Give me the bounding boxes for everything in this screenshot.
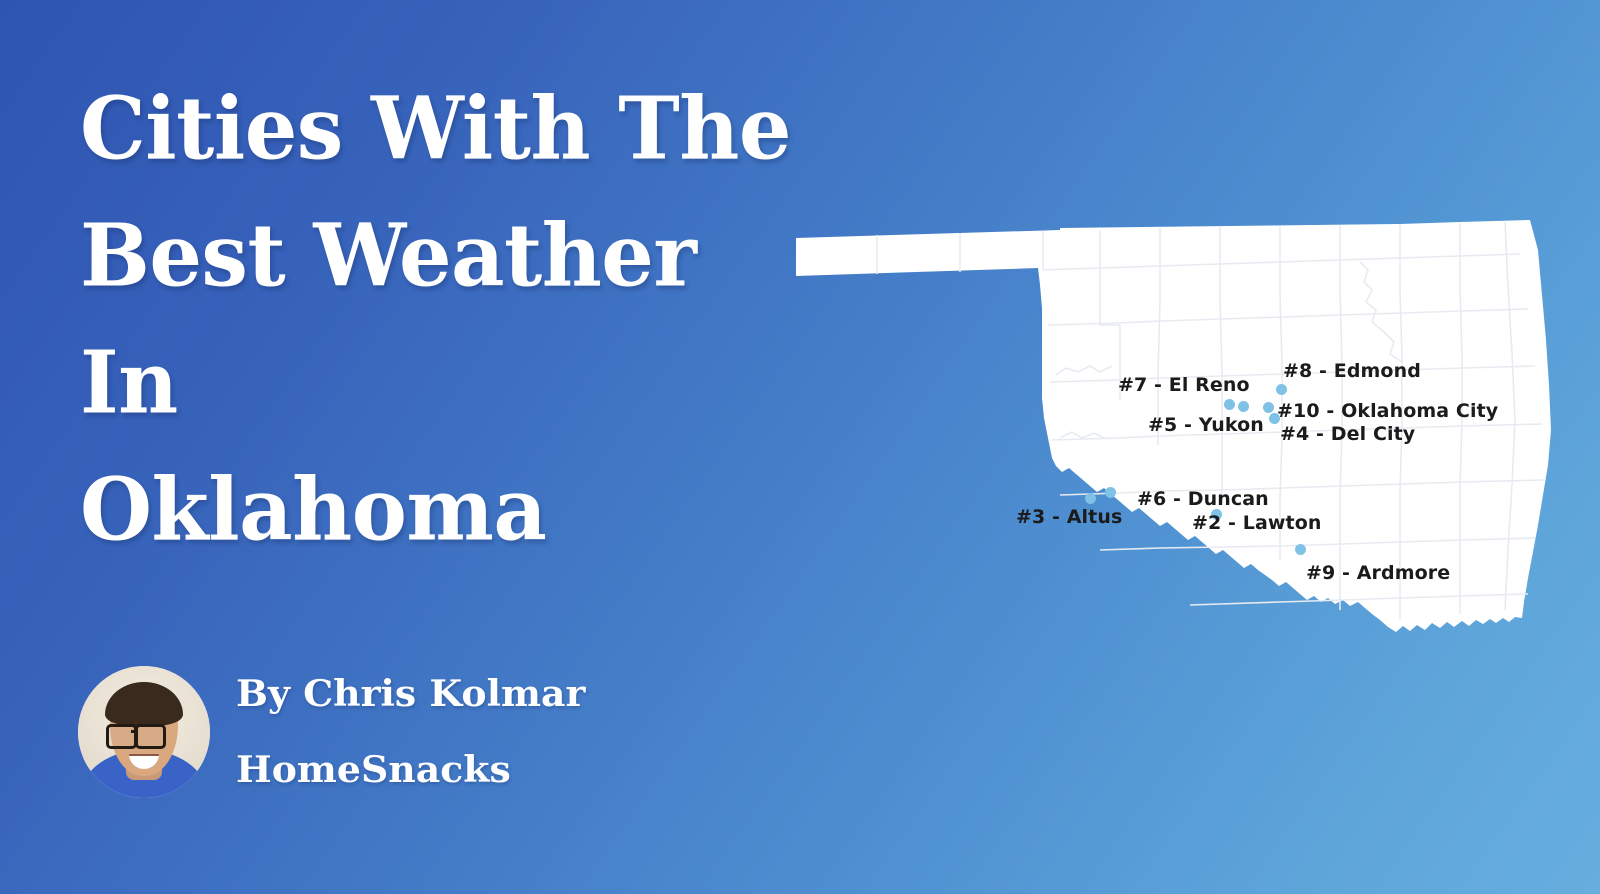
avatar-glasses-bridge [131, 730, 137, 733]
city-dot-duncan[interactable] [1105, 487, 1116, 498]
city-label-altus: #3 - Altus [1016, 506, 1122, 528]
poster-canvas: Cities With The Best Weather In Oklahoma… [0, 0, 1600, 894]
city-dot-altus[interactable] [1085, 493, 1096, 504]
city-label-lawton: #2 - Lawton [1192, 512, 1322, 534]
avatar [78, 666, 210, 798]
byline-text: By Chris Kolmar HomeSnacks [236, 656, 569, 808]
avatar-glasses-right-lens [135, 724, 166, 749]
city-label-del-city: #4 - Del City [1280, 423, 1415, 445]
byline-author: By Chris Kolmar [236, 656, 585, 732]
oklahoma-map: #2 - Lawton#3 - Altus#4 - Del City#5 - Y… [760, 190, 1590, 660]
title-line-3: In [80, 314, 864, 454]
city-label-yukon: #5 - Yukon [1148, 414, 1264, 436]
city-dot-yukon[interactable] [1238, 401, 1249, 412]
title-line-4: Oklahoma [80, 441, 864, 581]
city-label-oklahoma-city: #10 - Oklahoma City [1277, 400, 1498, 422]
byline: By Chris Kolmar HomeSnacks [78, 656, 569, 808]
title-line-2: Best Weather [80, 187, 864, 327]
page-title: Cities With The Best Weather In Oklahoma [80, 66, 820, 574]
city-label-duncan: #6 - Duncan [1137, 488, 1269, 510]
title-line-1: Cities With The [80, 60, 864, 200]
city-dot-ardmore[interactable] [1295, 544, 1306, 555]
city-label-edmond: #8 - Edmond [1283, 360, 1421, 382]
city-label-ardmore: #9 - Ardmore [1306, 562, 1450, 584]
city-dot-el-reno[interactable] [1224, 399, 1235, 410]
city-dot-edmond[interactable] [1276, 384, 1287, 395]
city-dot-oklahoma-city[interactable] [1263, 402, 1274, 413]
byline-brand: HomeSnacks [236, 732, 585, 808]
avatar-glasses-left-lens [106, 724, 137, 749]
city-label-el-reno: #7 - El Reno [1118, 374, 1250, 396]
